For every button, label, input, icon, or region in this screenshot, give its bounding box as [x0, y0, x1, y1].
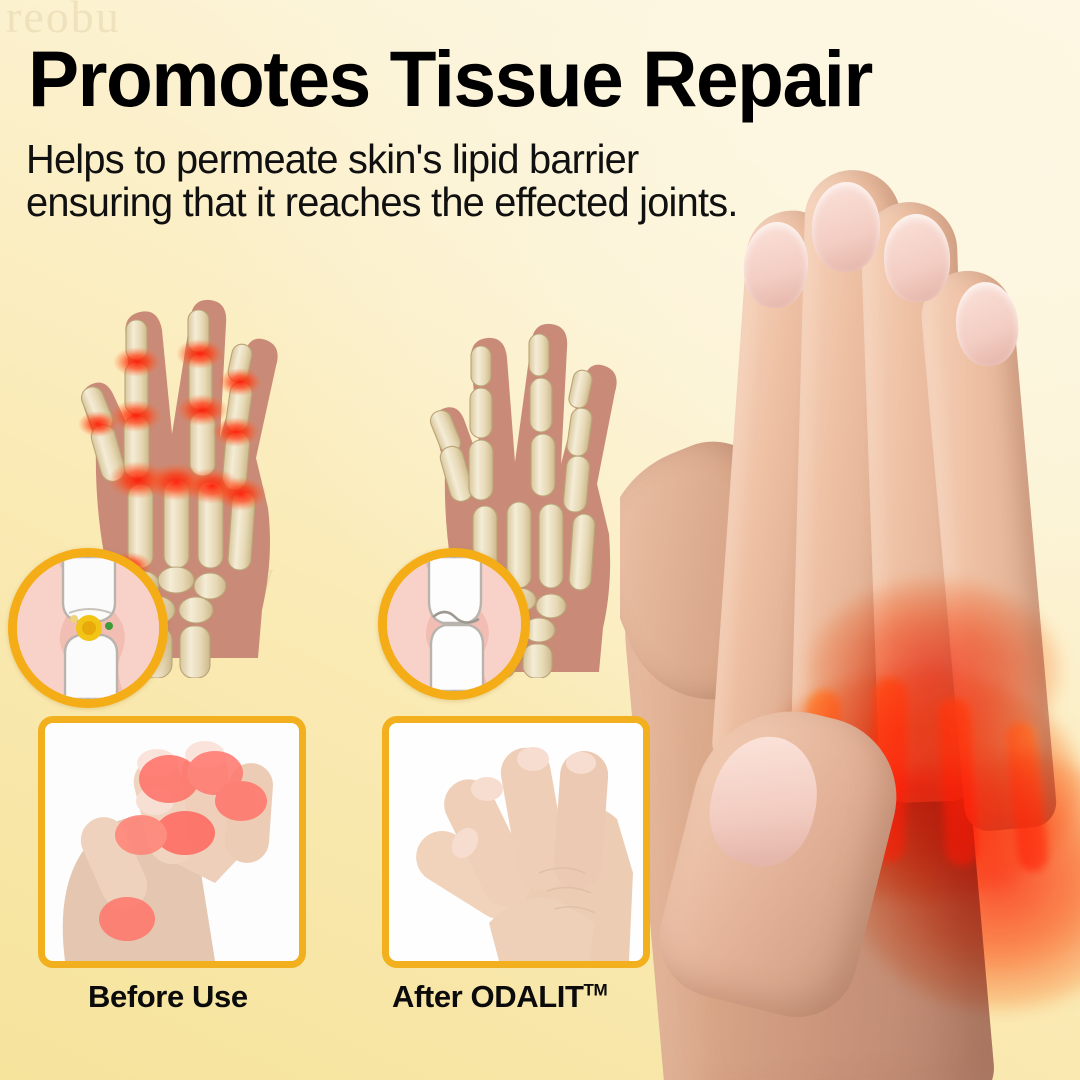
page-subtitle: Helps to permeate skin's lipid barrier e…	[26, 138, 773, 223]
caption-after-text: After ODALIT	[392, 979, 584, 1014]
caption-after: After ODALITTM	[392, 979, 607, 1015]
inset-healthy-joint	[378, 548, 530, 700]
inset-damaged-joint	[8, 548, 168, 708]
caption-before: Before Use	[88, 979, 248, 1015]
photo-card-after	[382, 716, 650, 968]
page-title: Promotes Tissue Repair	[28, 40, 872, 117]
photo-card-before	[38, 716, 306, 968]
trademark-symbol: TM	[584, 981, 608, 1000]
fingernail-shape	[811, 181, 881, 273]
infographic-canvas: reobu reobuy reobuy Promotes Tissue Repa…	[0, 0, 1080, 1080]
hero-photo-hands-with-pain	[620, 150, 1080, 1080]
